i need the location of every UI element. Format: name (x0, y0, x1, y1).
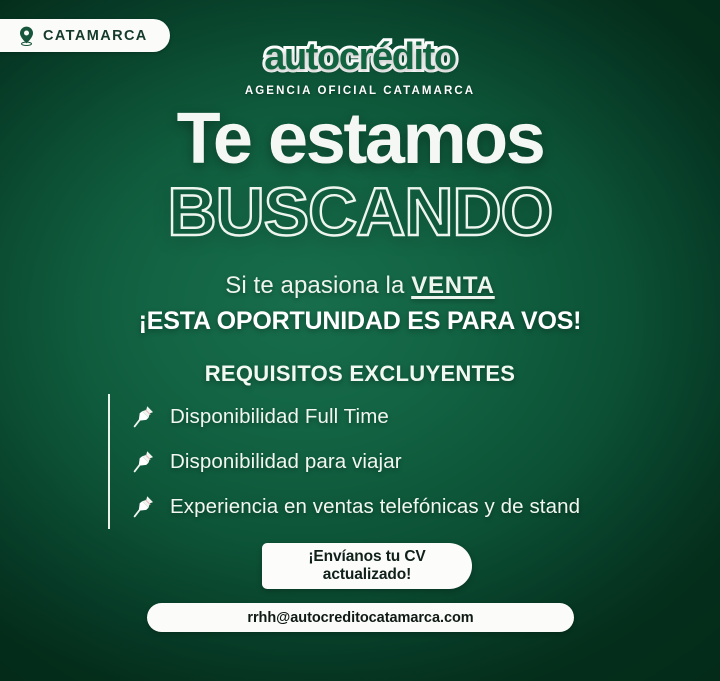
job-posting-poster: CATAMARCA autocrédito AGENCIA OFICIAL CA… (0, 0, 720, 681)
headline-line-2: BUSCANDO (0, 178, 720, 246)
send-cv-badge: ¡Envíanos tu CV actualizado! (262, 543, 472, 589)
list-item: Disponibilidad Full Time (132, 394, 638, 439)
subhead-line-2: ¡ESTA OPORTUNIDAD ES PARA VOS! (0, 307, 720, 336)
send-cv-line-2: actualizado! (308, 566, 425, 584)
send-cv-line-1: ¡Envíanos tu CV (308, 548, 425, 566)
pushpin-icon (132, 494, 156, 519)
pushpin-icon (132, 404, 156, 429)
subhead-line-1: Si te apasiona la VENTA (0, 272, 720, 300)
subhead-prefix: Si te apasiona la (225, 272, 411, 299)
requirements-title: REQUISITOS EXCLUYENTES (0, 361, 720, 387)
list-item: Experiencia en ventas telefónicas y de s… (132, 484, 638, 529)
list-item-label: Disponibilidad Full Time (170, 405, 389, 429)
logo-subtitle: AGENCIA OFICIAL CATAMARCA (0, 85, 720, 97)
contact-email-text: rrhh@autocreditocatamarca.com (247, 610, 473, 626)
logo-wordmark: autocrédito (264, 38, 456, 76)
headline-line-1: Te estamos (0, 103, 720, 175)
requirements-list: Disponibilidad Full Time Disponibilidad … (108, 394, 638, 529)
pushpin-icon (132, 449, 156, 474)
list-item: Disponibilidad para viajar (132, 439, 638, 484)
list-item-label: Experiencia en ventas telefónicas y de s… (170, 495, 580, 519)
list-item-label: Disponibilidad para viajar (170, 450, 402, 474)
send-cv-text: ¡Envíanos tu CV actualizado! (308, 548, 425, 585)
subhead-emphasis: VENTA (411, 272, 495, 299)
contact-email-pill[interactable]: rrhh@autocreditocatamarca.com (147, 603, 574, 632)
brand-logo: autocrédito AGENCIA OFICIAL CATAMARCA (0, 38, 720, 97)
